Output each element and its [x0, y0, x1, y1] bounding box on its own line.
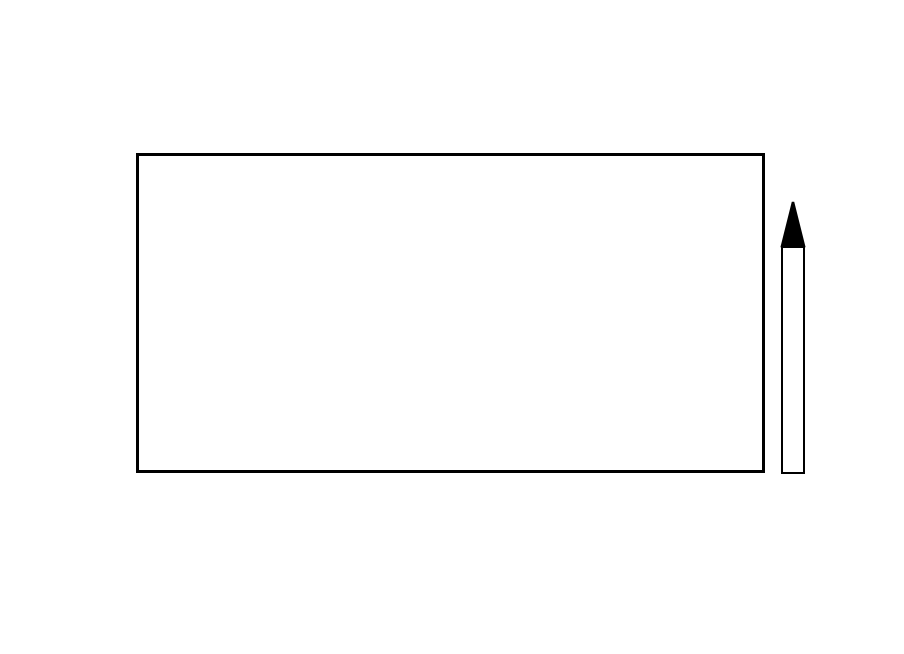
figure-canvas — [0, 0, 904, 654]
colorbar[interactable] — [781, 246, 805, 474]
contour-plot-area — [136, 153, 765, 473]
colorbar-arrow-cap-icon — [779, 200, 807, 248]
